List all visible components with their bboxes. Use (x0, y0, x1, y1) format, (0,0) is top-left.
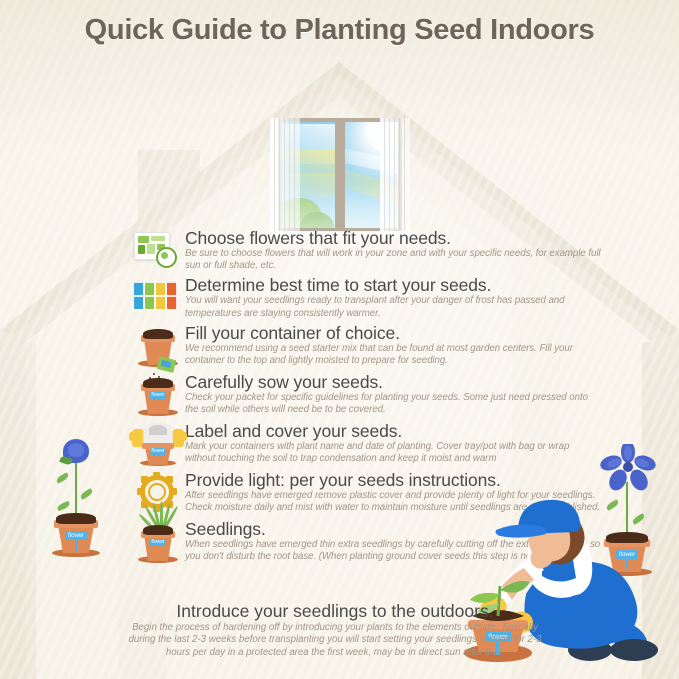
curtain-left (270, 118, 300, 232)
curtain-right (380, 118, 410, 232)
step-item: Choose flowers that fit your needs. Be s… (132, 228, 602, 272)
infographic-poster: Quick Guide to Planting Seed Indoors Cho… (0, 0, 679, 679)
pot-tag: flower (65, 531, 87, 540)
sowing-seeds-icon: flower (136, 358, 180, 418)
blue-bloom-icon (600, 444, 656, 492)
covered-pot-gloves-icon: flower (132, 421, 184, 467)
pot-tag: flower (150, 539, 166, 546)
step-body: We recommend using a seed starter mix th… (185, 343, 602, 367)
step-heading: Fill your container of choice. (185, 323, 602, 343)
page-title: Quick Guide to Planting Seed Indoors (0, 14, 679, 47)
flower-pot: flower (50, 511, 102, 557)
pot-tag: flower (150, 392, 166, 399)
window-illustration (278, 118, 402, 232)
outro-heading: Introduce your seedlings to the outdoors… (120, 600, 550, 622)
step-heading: Choose flowers that fit your needs. (185, 228, 602, 248)
step-body: Check your packet for specific guideline… (185, 392, 602, 416)
step-item: Determine best time to start your seeds.… (132, 275, 602, 319)
step-heading: Provide light: per your seeds instructio… (185, 470, 602, 490)
step-heading: Label and cover your seeds. (185, 421, 602, 441)
step-item: Fill your container of choice. We recomm… (132, 323, 602, 369)
step-body: Be sure to choose flowers that will work… (185, 248, 602, 272)
seedling-pot-icon: flower (136, 503, 180, 565)
step-body: You will want your seedlings ready to tr… (185, 295, 602, 319)
left-potted-flower: flower (44, 415, 108, 555)
step-body: Mark your containers with plant name and… (185, 441, 602, 465)
step-heading: Carefully sow your seeds. (185, 372, 602, 392)
seed-catalog-icon (132, 228, 182, 274)
seed-packets-icon (132, 275, 182, 321)
step-item: flower Carefully sow your seeds. Check y… (132, 372, 602, 418)
outro-block: Introduce your seedlings to the outdoors… (120, 600, 550, 659)
step-item: flower Label and cover your seeds. Mark … (132, 421, 602, 467)
outro-body: Begin the process of hardening off by in… (120, 622, 550, 659)
step-heading: Determine best time to start your seeds. (185, 275, 602, 295)
pot-tag: flower (151, 448, 166, 455)
